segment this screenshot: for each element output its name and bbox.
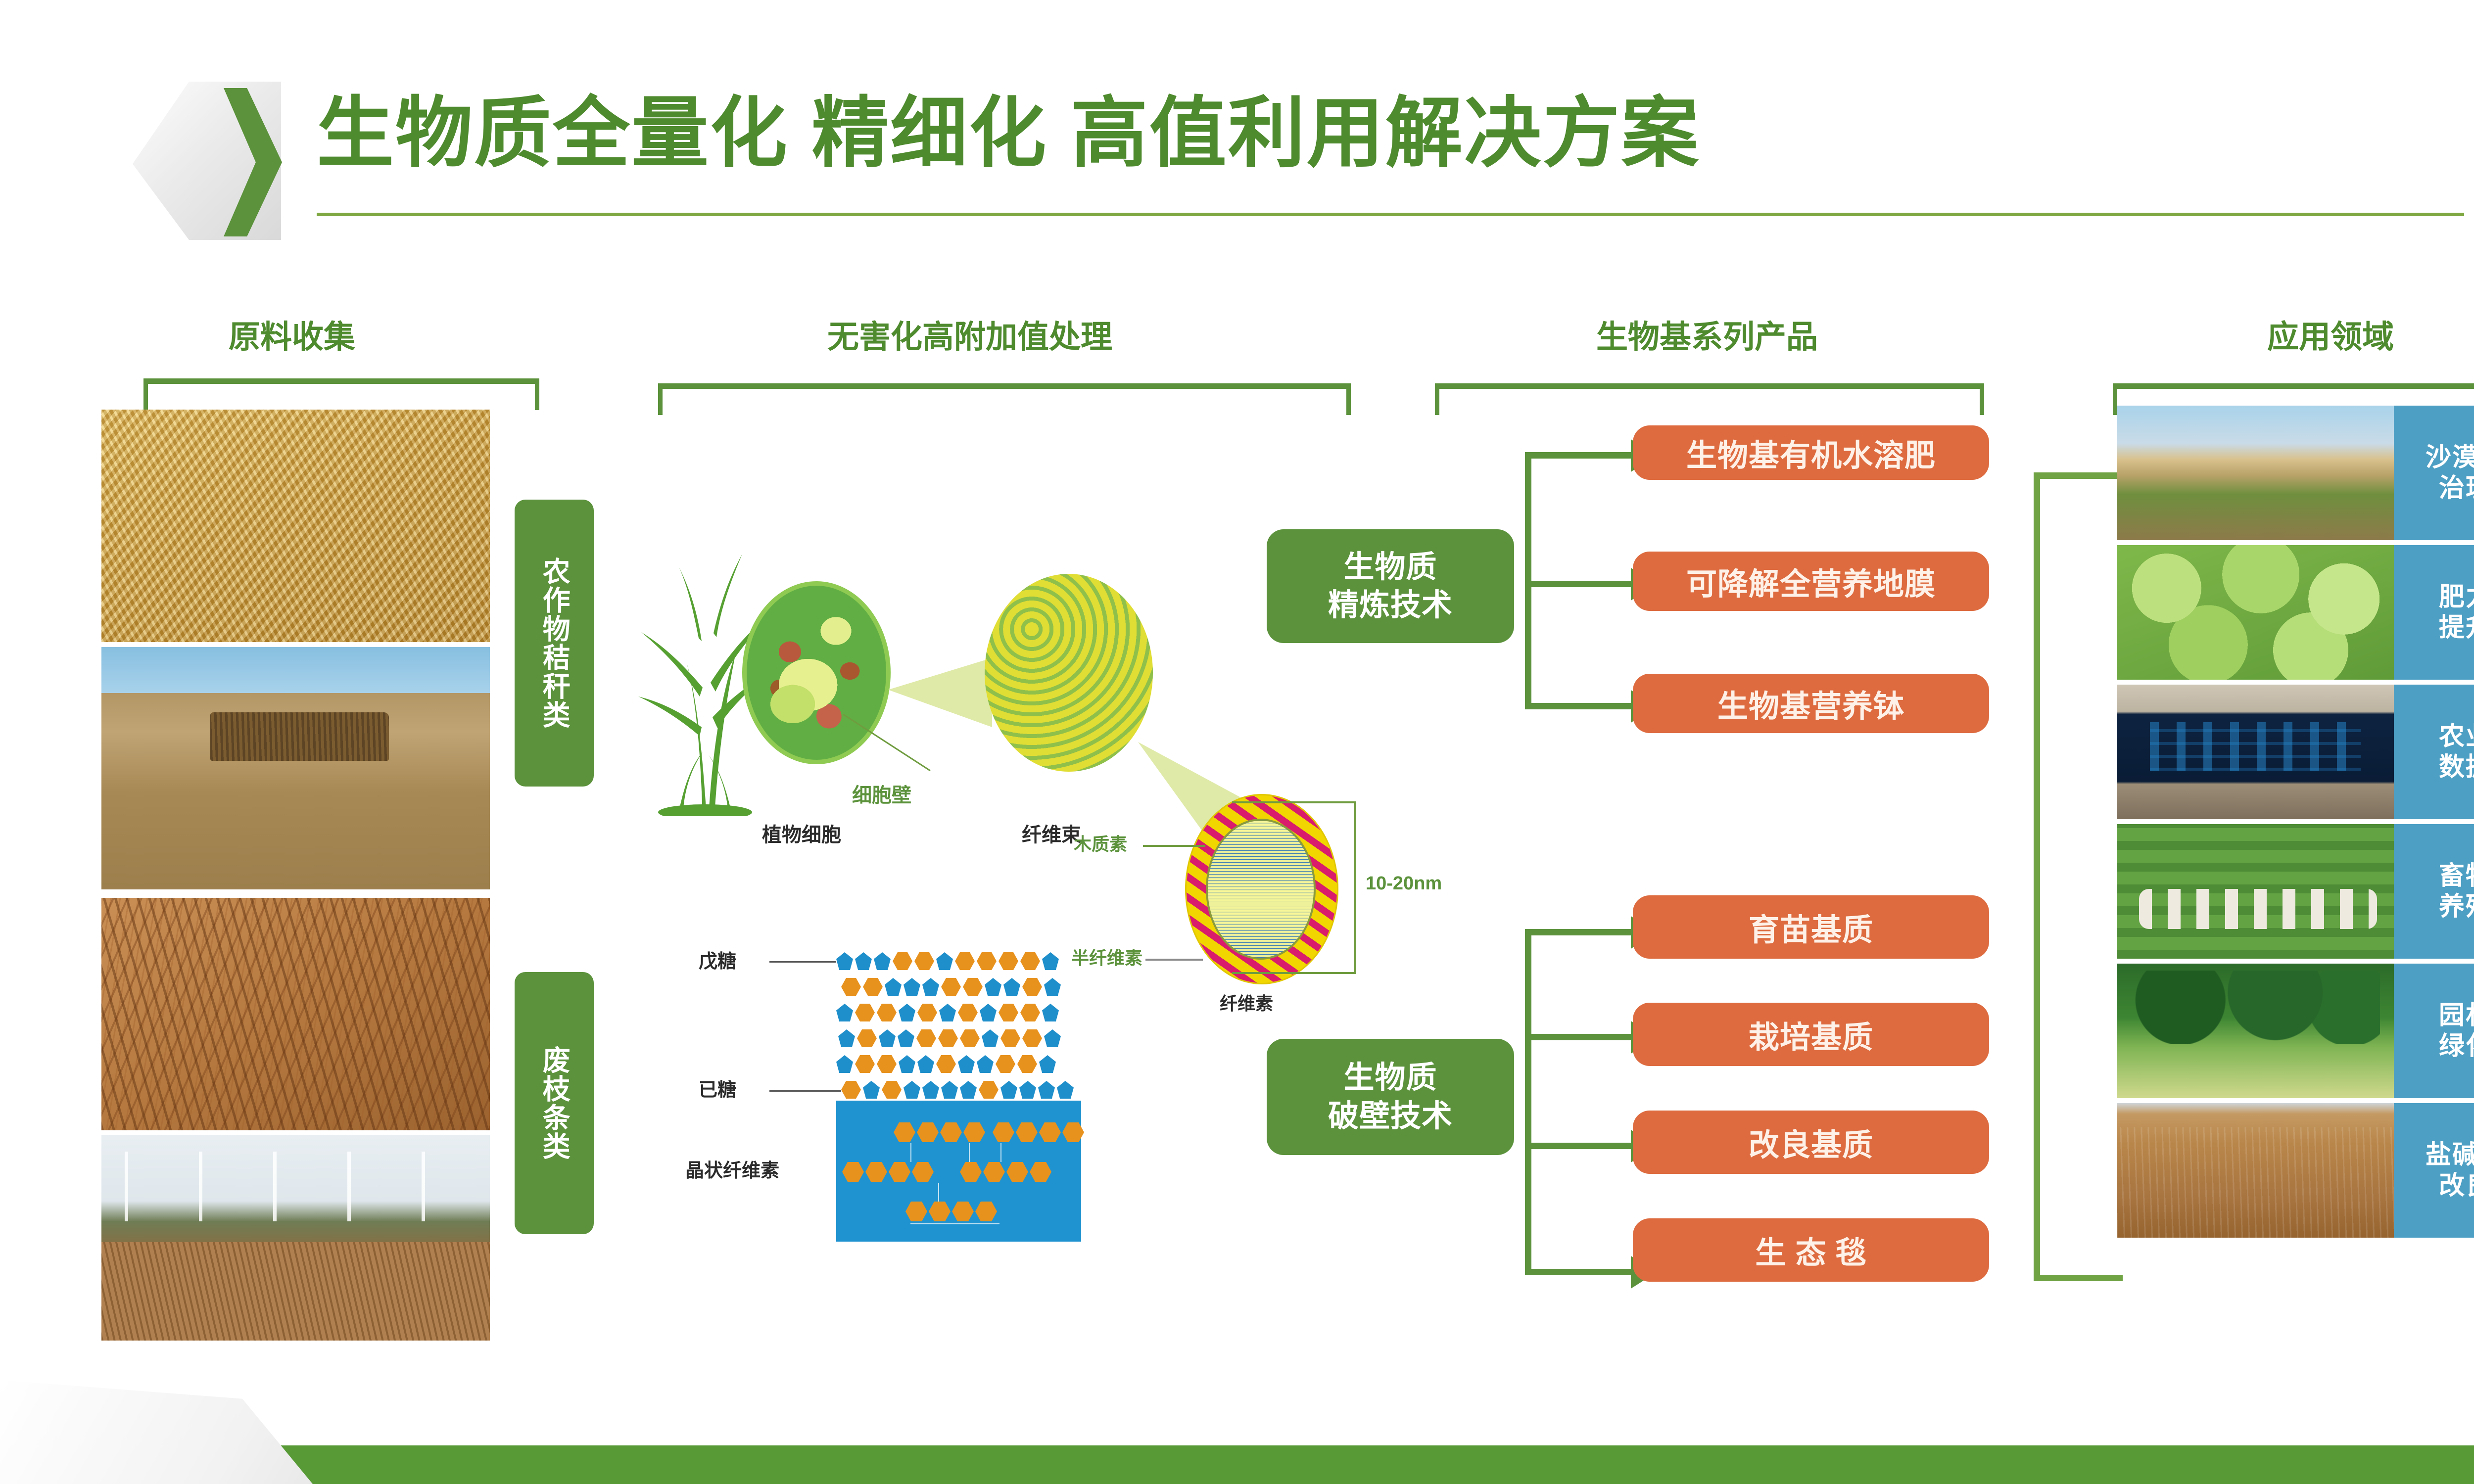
fiber-bundle-label: 纤维束 (1022, 819, 1081, 847)
application-bracket (2034, 472, 2123, 1281)
application-tag-desertification: 沙漠化 治理 (2394, 406, 2474, 540)
footer-bar (0, 1445, 2474, 1484)
connector-branch-refining-2 (1525, 581, 1633, 587)
application-row-livestock: 畜牧 养殖 (2117, 824, 2474, 959)
product-pill-degradable-mulch-film: 可降解全营养地膜 (1633, 552, 1989, 611)
straw-bale-field-photo (101, 647, 490, 889)
grazing-sheep-photo (2117, 824, 2394, 959)
tech-pill-cell-wall-breaking: 生物质 破壁技术 (1267, 1039, 1514, 1155)
category-pill-waste-branches: 废枝条类 (515, 972, 594, 1234)
application-tag-line2: 数据 (2439, 752, 2474, 783)
application-tag-line1: 肥力 (2439, 582, 2474, 612)
dry-branches-photo (101, 898, 490, 1130)
tech-pill-line2: 精炼技术 (1328, 586, 1453, 625)
crystalline-cellulose-label: 晶状纤维素 (685, 1155, 779, 1182)
application-tag-saline-land: 盐碱地 改良 (2394, 1103, 2474, 1238)
application-tag-livestock: 畜牧 养殖 (2394, 824, 2474, 959)
tech-pill-biomass-refining: 生物质 精炼技术 (1267, 529, 1514, 643)
product-pill-cultivation-substrate: 栽培基质 (1633, 1003, 1989, 1066)
title-underline-divider (317, 213, 2464, 216)
application-tag-line1: 畜牧 (2439, 861, 2474, 891)
lettuce-field-photo (2117, 545, 2394, 680)
fiber-bundle-illustration (985, 574, 1153, 772)
application-tag-agriculture-data: 农业 数据 (2394, 685, 2474, 819)
page-title: 生物质全量化 精细化 高值利用解决方案 (317, 95, 1700, 172)
product-pill-water-soluble-fertilizer: 生物基有机水溶肥 (1633, 425, 1989, 480)
application-row-landscaping: 园林 绿化 (2117, 964, 2474, 1098)
cellulose-core-illustration (1206, 819, 1316, 960)
dimension-line-top (1232, 801, 1356, 803)
cell-wall-pointer-line (841, 712, 940, 777)
garden-landscape-photo (2117, 964, 2394, 1098)
connector-trunk-breaking (1525, 929, 1531, 1275)
product-pill-improvement-substrate: 改良基质 (1633, 1111, 1989, 1174)
dimension-line-vertical (1354, 801, 1356, 974)
connector-branch-refining-1 (1525, 452, 1633, 459)
application-tag-line2: 绿化 (2439, 1031, 2474, 1062)
connector-branch-breaking-3 (1525, 1143, 1633, 1149)
application-tag-line1: 农业 (2439, 721, 2474, 752)
application-tag-line1: 沙漠化 (2426, 442, 2474, 473)
pentose-leader-line (769, 961, 836, 963)
bracket-biobased-products (1435, 383, 1984, 415)
application-tag-line1: 盐碱地 (2426, 1140, 2474, 1170)
connector-branch-breaking-2 (1525, 1034, 1633, 1040)
pentose-label: 戊糖 (699, 946, 736, 973)
category-pill-crop-straw: 农作物秸秆类 (515, 500, 594, 787)
application-tag-line1: 园林 (2439, 1000, 2474, 1031)
application-row-agriculture-data: 农业 数据 (2117, 685, 2474, 819)
application-tag-landscaping: 园林 绿化 (2394, 964, 2474, 1098)
tech-pill-line1: 生物质 (1343, 1059, 1437, 1097)
application-tag-line2: 治理 (2439, 473, 2474, 504)
plant-cell-label: 植物细胞 (762, 819, 841, 847)
application-tag-line2: 养殖 (2439, 891, 2474, 922)
tech-pill-line1: 生物质 (1343, 548, 1437, 587)
application-row-desertification: 沙漠化 治理 (2117, 406, 2474, 540)
bracket-raw-material (143, 378, 539, 410)
agriculture-data-center-photo (2117, 685, 2394, 819)
column-header-application-fields: 应用领域 (2093, 312, 2474, 357)
fibril-dimension-label: 10-20nm (1366, 873, 1442, 894)
infographic-canvas: 生物质全量化 精细化 高值利用解决方案 原料收集 无害化高附加值处理 生物基系列… (0, 0, 2474, 1484)
lignin-pointer-line (1143, 841, 1207, 851)
application-tag-line2: 提升 (2439, 612, 2474, 643)
application-tag-line2: 改良 (2439, 1170, 2474, 1201)
saline-land-photo (2117, 1103, 2394, 1238)
hexose-leader-line (769, 1090, 841, 1092)
cellulose-label: 纤维素 (1220, 989, 1273, 1015)
crystalline-cellulose-illustration (836, 1101, 1081, 1242)
desert-restoration-photo (2117, 406, 2394, 540)
product-pill-seedling-substrate: 育苗基质 (1633, 895, 1989, 959)
tech-pill-line2: 破壁技术 (1328, 1097, 1453, 1136)
connector-branch-refining-3 (1525, 703, 1633, 709)
hexose-label: 已糖 (699, 1074, 736, 1102)
column-header-raw-material: 原料收集 (139, 312, 445, 357)
cell-wall-label: 细胞壁 (852, 779, 911, 808)
connector-branch-breaking-1 (1525, 929, 1633, 935)
product-pill-ecological-blanket: 生 态 毯 (1633, 1218, 1989, 1282)
application-row-fertility: 肥力 提升 (2117, 545, 2474, 680)
lignin-label: 木质素 (1074, 830, 1127, 856)
application-row-saline-land: 盐碱地 改良 (2117, 1103, 2474, 1238)
corn-stalks-photo (101, 410, 490, 642)
pruned-orchard-photo (101, 1135, 490, 1341)
dimension-line-bottom (1232, 972, 1356, 974)
application-tag-fertility: 肥力 提升 (2394, 545, 2474, 680)
connector-branch-breaking-4 (1525, 1269, 1633, 1275)
column-header-harmless-processing: 无害化高附加值处理 (663, 312, 1277, 357)
bracket-harmless-processing (658, 383, 1351, 415)
product-pill-biobased-nutrient-pot: 生物基营养钵 (1633, 674, 1989, 733)
column-header-biobased-products: 生物基系列产品 (1435, 312, 1979, 357)
